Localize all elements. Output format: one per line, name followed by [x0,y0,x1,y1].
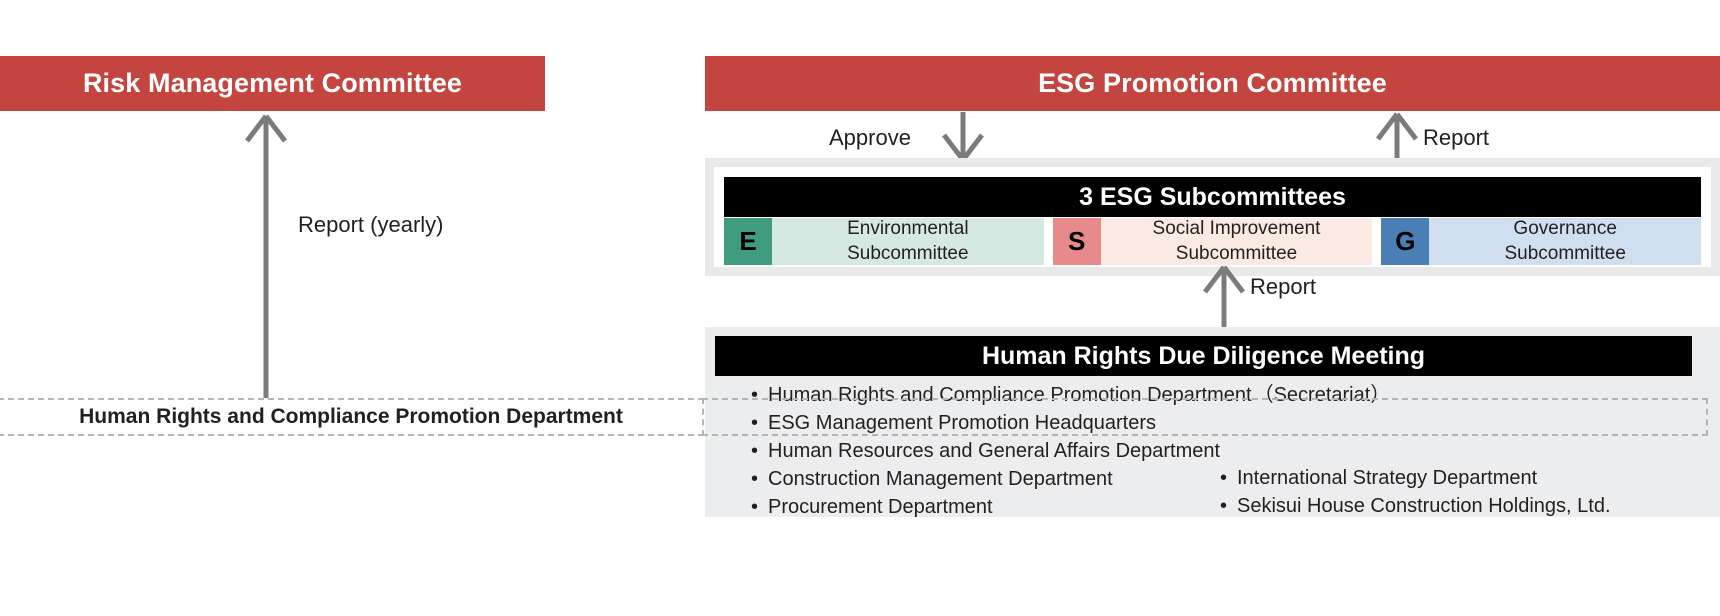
bullet-icon: • [751,409,768,437]
member-name: Sekisui House Construction Holdings, Ltd… [1237,492,1611,520]
environmental-subcommittee-name: Environmental Subcommittee [772,218,1044,265]
human-rights-due-diligence-title: Human Rights Due Diligence Meeting [715,336,1692,376]
hrdd-members-right-column: • International Strategy Department • Se… [1220,464,1611,520]
approve-arrow-down [940,112,986,162]
subcommittee-item-governance: G Governance Subcommittee [1381,218,1701,265]
governance-badge-letter: G [1395,226,1415,257]
bullet-icon: • [751,493,768,521]
governance-name-line2: Subcommittee [1504,242,1625,266]
risk-management-committee-bar: Risk Management Committee [0,56,545,111]
report-yearly-arrow-up [243,114,289,402]
social-name-line2: Subcommittee [1176,242,1297,266]
human-rights-compliance-department-label: Human Rights and Compliance Promotion De… [79,405,623,429]
bullet-icon: • [1220,492,1237,520]
member-note: （Secretariat） [1254,381,1391,409]
bullet-icon: • [751,381,768,409]
list-item: • Human Resources and General Affairs De… [751,437,1390,465]
esg-subcommittees-title: 3 ESG Subcommittees [724,177,1701,217]
governance-badge: G [1381,218,1429,265]
social-badge: S [1053,218,1101,265]
esg-promotion-committee-bar: ESG Promotion Committee [705,56,1720,111]
esg-promotion-committee-label: ESG Promotion Committee [1038,68,1387,99]
risk-management-committee-label: Risk Management Committee [83,68,462,99]
list-item: • Human Rights and Compliance Promotion … [751,381,1390,409]
report-top-arrow-up [1374,112,1420,162]
human-rights-compliance-department-box: Human Rights and Compliance Promotion De… [0,398,704,436]
report-yearly-label: Report (yearly) [298,212,443,238]
bullet-icon: • [1220,464,1237,492]
report-top-label: Report [1423,125,1489,151]
member-name: International Strategy Department [1237,464,1537,492]
bullet-icon: • [751,465,768,493]
list-item: • Sekisui House Construction Holdings, L… [1220,492,1611,520]
list-item: • International Strategy Department [1220,464,1611,492]
report-middle-arrow-up [1201,265,1247,331]
social-badge-letter: S [1068,226,1085,257]
environmental-badge-letter: E [739,226,756,257]
approve-label: Approve [829,125,911,151]
member-name: Construction Management Department [768,465,1113,493]
governance-name-line1: Governance [1513,217,1617,241]
org-diagram-canvas: Risk Management Committee Report (yearly… [0,0,1720,616]
list-item: • ESG Management Promotion Headquarters [751,409,1390,437]
environmental-badge: E [724,218,772,265]
member-name: Human Resources and General Affairs Depa… [768,437,1220,465]
member-name: Human Rights and Compliance Promotion De… [768,381,1252,409]
esg-subcommittees-panel: 3 ESG Subcommittees E Environmental Subc… [705,158,1720,276]
social-subcommittee-name: Social Improvement Subcommittee [1101,218,1373,265]
esg-subcommittees-row: E Environmental Subcommittee S Social Im… [724,218,1701,265]
subcommittee-item-social: S Social Improvement Subcommittee [1053,218,1373,265]
environmental-name-line2: Subcommittee [847,242,968,266]
subcommittee-item-environmental: E Environmental Subcommittee [724,218,1044,265]
report-middle-label: Report [1250,274,1316,300]
social-name-line1: Social Improvement [1153,217,1321,241]
member-name: Procurement Department [768,493,993,521]
bullet-icon: • [751,437,768,465]
member-name: ESG Management Promotion Headquarters [768,409,1156,437]
human-rights-due-diligence-panel: Human Rights Due Diligence Meeting • Hum… [705,327,1720,517]
governance-subcommittee-name: Governance Subcommittee [1429,218,1701,265]
hrdd-members-list: • Human Rights and Compliance Promotion … [715,381,1700,511]
environmental-name-line1: Environmental [847,217,968,241]
